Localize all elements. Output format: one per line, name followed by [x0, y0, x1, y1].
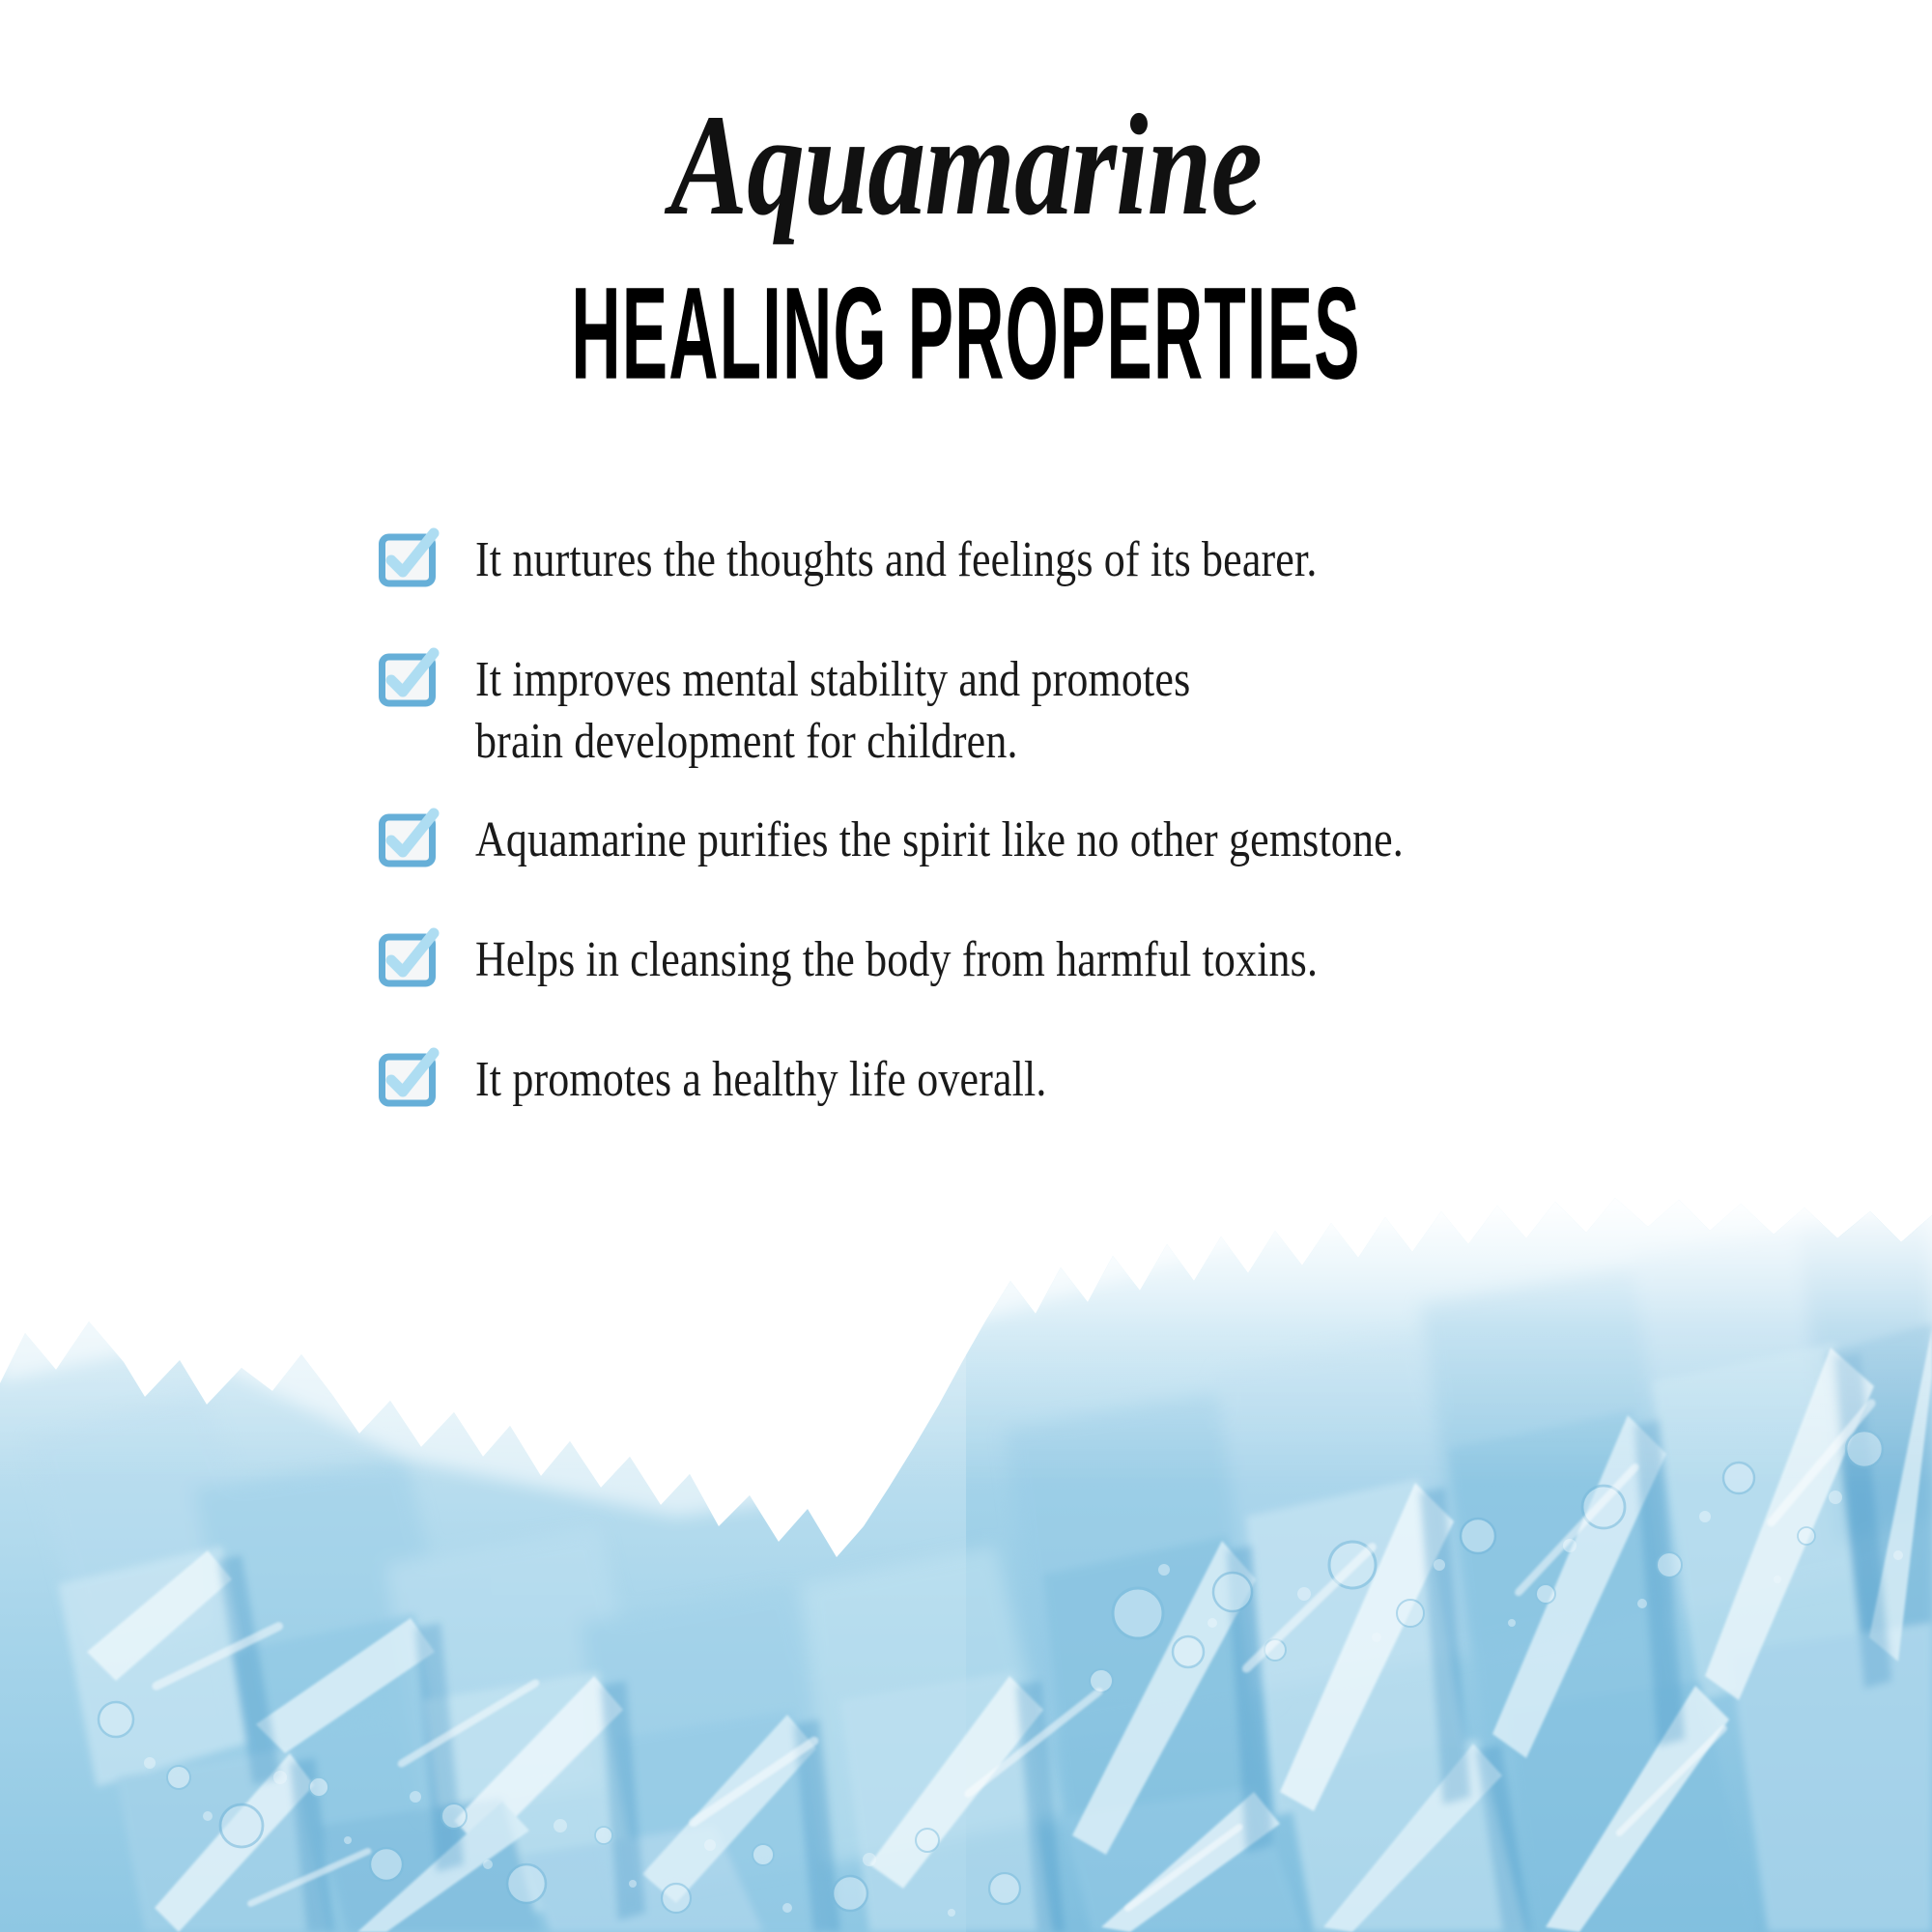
list-item-label: It improves mental stability and promote…	[475, 649, 1190, 773]
list-item: It nurtures the thoughts and feelings of…	[379, 529, 1808, 591]
checkbox-checked-icon	[379, 531, 439, 591]
checkbox-checked-icon	[379, 931, 439, 991]
list-item: Helps in cleansing the body from harmful…	[379, 929, 1808, 991]
page-title: Aquamarine	[193, 93, 1739, 238]
list-item-label: It nurtures the thoughts and feelings of…	[475, 529, 1317, 591]
checkbox-checked-icon	[379, 1051, 439, 1111]
crushed-ice-cubes-photo	[0, 1198, 1932, 1932]
list-item-label: Aquamarine purifies the spirit like no o…	[475, 810, 1404, 871]
healing-properties-list: It nurtures the thoughts and feelings of…	[379, 529, 1808, 1111]
checkbox-checked-icon	[379, 811, 439, 871]
list-item-label: It promotes a healthy life overall.	[475, 1049, 1047, 1111]
list-item-label: Helps in cleansing the body from harmful…	[475, 929, 1318, 991]
page-subtitle: HEALING PROPERTIES	[430, 269, 1502, 400]
list-item: It promotes a healthy life overall.	[379, 1049, 1808, 1111]
poster-canvas: Aquamarine HEALING PROPERTIES It nurture…	[0, 0, 1932, 1932]
list-item: It improves mental stability and promote…	[379, 649, 1808, 773]
list-item: Aquamarine purifies the spirit like no o…	[379, 810, 1808, 871]
poster-header: Aquamarine HEALING PROPERTIES	[0, 0, 1932, 396]
checkbox-checked-icon	[379, 651, 439, 711]
